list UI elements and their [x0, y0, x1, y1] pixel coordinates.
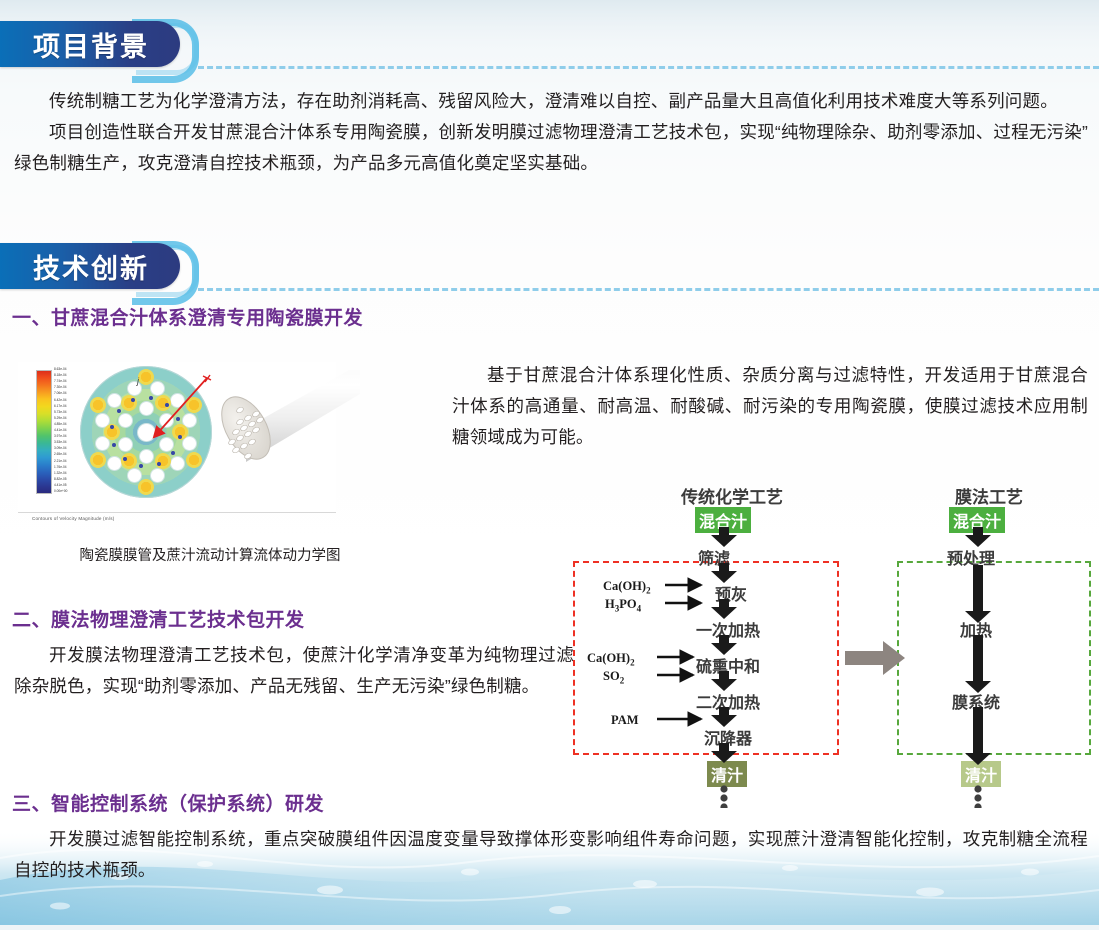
figure-caption: 陶瓷膜膜管及蔗汁流动计算流体动力学图	[60, 544, 360, 565]
colorbar-tick: 2.65e-04	[54, 453, 67, 456]
colorbar-tick: 6.42e-04	[54, 399, 67, 402]
flow-right-title: 膜法工艺	[955, 483, 1023, 508]
colorbar-tick: 8.63e-04	[54, 368, 67, 371]
contour-low-velocity-dot	[117, 409, 121, 413]
section-divider-2	[198, 288, 1099, 291]
colorbar-tick: 3.97e-04	[54, 435, 67, 438]
colorbar-tick: 3.53e-04	[54, 441, 67, 444]
reagent-h3po4: H3PO4	[605, 597, 641, 614]
flow-right-step-1: 膜系统	[952, 689, 1000, 713]
transition-arrow	[845, 641, 905, 675]
contour-low-velocity-dot	[112, 443, 116, 447]
subsection-1-text: 基于甘蔗混合汁体系理化性质、杂质分离与过滤特性，开发适用于甘蔗混合汁体系的高通量…	[452, 360, 1088, 453]
velocity-colorbar	[36, 370, 52, 494]
cfd-figure: 8.63e-048.18e-047.74e-047.30e-047.06e-04…	[18, 362, 348, 557]
colorbar-tick: 8.18e-04	[54, 374, 67, 377]
colorbar-tick: 6.17e-04	[54, 405, 67, 408]
flow-left-step-4: 沉降器	[704, 725, 752, 749]
colorbar-tick: 7.30e-04	[54, 386, 67, 389]
contour-hotspot-outer	[186, 452, 202, 468]
contour-low-velocity-dot	[171, 451, 175, 455]
membrane-hole-inner	[140, 450, 153, 463]
section-badge-project-background: 项目背景	[0, 21, 180, 67]
paragraph-1: 传统制糖工艺为化学澄清方法，存在助剂消耗高、残留风险大，澄清难以自控、副产品量大…	[14, 86, 1088, 117]
ceramic-membrane-tube-photo	[210, 370, 360, 490]
flow-left-outlet-chip: 清汁	[707, 761, 747, 787]
cfd-annotation-arrow	[143, 374, 213, 446]
flow-left-title: 传统化学工艺	[681, 483, 783, 508]
colorbar-tick: 8.82e-05	[54, 478, 67, 481]
flow-left-step-0: 预灰	[715, 581, 747, 605]
flow-left-step-2: 硫熏中和	[696, 653, 760, 677]
badge-label: 项目背景	[33, 25, 149, 64]
membrane-hole-inner	[119, 414, 132, 427]
colorbar-tick: 7.74e-04	[54, 380, 67, 383]
contour-hotspot-inner	[121, 453, 137, 469]
flow-right-step-0: 加热	[960, 617, 992, 641]
flow-right-inlet-chip: 混合汁	[949, 507, 1005, 533]
colorbar-tick: 1.76e-04	[54, 466, 67, 469]
subsection-2-paragraph: 开发膜法物理澄清工艺技术包，使蔗汁化学清净变革为纯物理过滤除杂脱色，实现“助剂零…	[14, 640, 574, 702]
contour-hotspot-outer	[90, 397, 106, 413]
flow-right-step-pretreat: 预处理	[947, 545, 995, 569]
subsection-heading-3: 三、智能控制系统（保护系统）研发	[12, 789, 324, 816]
flow-left-step-screen: 筛滤	[698, 545, 730, 569]
colorbar-tick: 7.06e-04	[54, 392, 67, 395]
colorbar-tick: 4.41e-04	[54, 429, 67, 432]
membrane-hole-outer	[151, 469, 164, 482]
colorbar-tick: 2.21e-04	[54, 460, 67, 463]
membrane-hole-outer	[108, 394, 121, 407]
reagent-caoh2-1: Ca(OH)2	[603, 579, 651, 596]
membrane-hole-outer	[171, 457, 184, 470]
badge-pill: 项目背景	[0, 21, 180, 67]
flow-left-inlet-chip: 混合汁	[695, 507, 751, 533]
colorbar-tick: 4.41e-05	[54, 484, 67, 487]
reagent-so2: SO2	[603, 669, 624, 686]
flow-right-outlet-chip: 清汁	[961, 761, 1001, 787]
process-flow-diagram: 传统化学工艺 膜法工艺 混合汁 筛滤 预灰 一次加热 硫熏中和 二次加热 沉降器…	[565, 483, 1099, 808]
membrane-process-dashed-box	[897, 561, 1091, 755]
colorbar-tick: 5.73e-04	[54, 411, 67, 414]
membrane-hole-outer	[96, 437, 109, 450]
colorbar-tick: 3.09e-04	[54, 447, 67, 450]
contour-low-velocity-dot	[123, 457, 127, 461]
subsection-heading-2: 二、膜法物理澄清工艺技术包开发	[12, 605, 305, 632]
subsection-3-text: 开发膜过滤智能控制系统，重点突破膜组件因温度变量导致撑体形变影响组件寿命问题，实…	[14, 824, 1088, 886]
section-badge-tech-innovation: 技术创新	[0, 243, 180, 289]
reagent-pam: PAM	[611, 713, 639, 728]
subsection-3-paragraph: 开发膜过滤智能控制系统，重点突破膜组件因温度变量导致撑体形变影响组件寿命问题，实…	[14, 824, 1088, 886]
colorbar-tick: 4.85e-04	[54, 423, 67, 426]
colorbar-tick: 0.00e+00	[54, 490, 67, 493]
colorbar-tick: 5.29e-04	[54, 417, 67, 420]
membrane-hole-outer	[128, 469, 141, 482]
subsection-2-text: 开发膜法物理澄清工艺技术包，使蔗汁化学清净变革为纯物理过滤除杂脱色，实现“助剂零…	[14, 640, 574, 702]
badge-pill-2: 技术创新	[0, 243, 180, 289]
colorbar-tick: 1.32e-04	[54, 472, 67, 475]
membrane-hole-inner	[119, 438, 132, 451]
reagent-caoh2-2: Ca(OH)2	[587, 651, 635, 668]
cfd-plot-caption: Contours of Velocity Magnitude (m/s)	[32, 516, 115, 521]
flow-left-step-1: 一次加热	[696, 617, 760, 641]
project-background-text: 传统制糖工艺为化学澄清方法，存在助剂消耗高、残留风险大，澄清难以自控、副产品量大…	[14, 86, 1088, 179]
membrane-hole-outer	[108, 457, 121, 470]
subsection-heading-1: 一、甘蔗混合汁体系澄清专用陶瓷膜开发	[12, 303, 363, 330]
flow-left-step-3: 二次加热	[696, 689, 760, 713]
contour-hotspot-outer	[90, 452, 106, 468]
contour-low-velocity-dot	[157, 462, 161, 466]
section-divider-1	[198, 66, 1099, 69]
cfd-j-annotation: j	[137, 376, 139, 386]
contour-hotspot-outer	[138, 479, 154, 495]
paragraph-2: 项目创造性联合开发甘蔗混合汁体系专用陶瓷膜，创新发明膜过滤物理澄清工艺技术包，实…	[14, 117, 1088, 179]
subsection-1-paragraph: 基于甘蔗混合汁体系理化性质、杂质分离与过滤特性，开发适用于甘蔗混合汁体系的高通量…	[452, 360, 1088, 453]
contour-hotspot-inner	[121, 395, 137, 411]
badge-label-2: 技术创新	[33, 247, 149, 286]
contour-low-velocity-dot	[139, 464, 143, 468]
